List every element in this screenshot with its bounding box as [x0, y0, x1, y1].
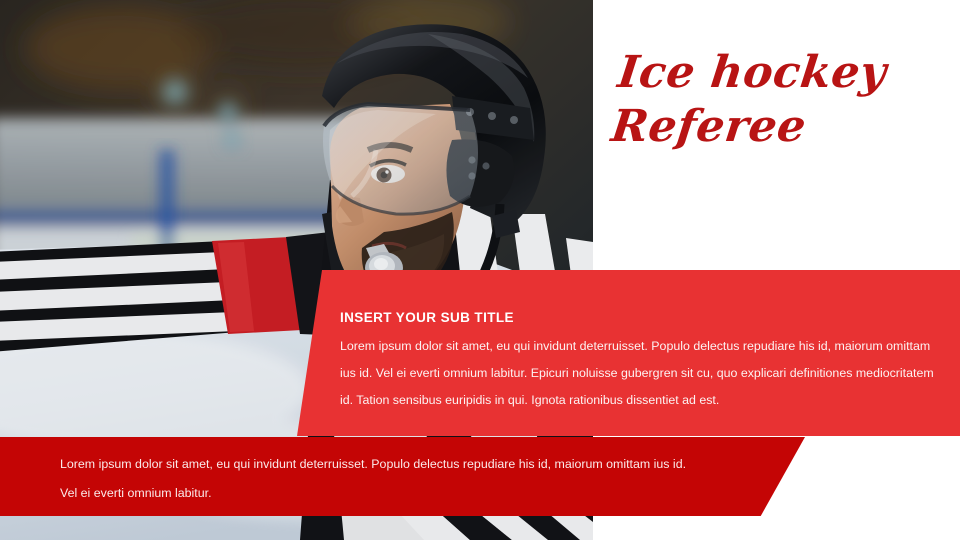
sub-title: INSERT YOUR SUB TITLE: [340, 270, 950, 325]
page-title: Ice hockey Referee: [608, 46, 951, 153]
body-paragraph: Lorem ipsum dolor sit amet, eu qui invid…: [340, 325, 940, 414]
title-line-2: Referee: [608, 100, 945, 154]
bottom-banner-text-group: Lorem ipsum dolor sit amet, eu qui invid…: [60, 437, 700, 516]
banner-paragraph: Lorem ipsum dolor sit amet, eu qui invid…: [60, 437, 700, 507]
title-line-1: Ice hockey: [615, 47, 889, 98]
presentation-slide: Ice hockey Referee INSERT YOUR SUB TITLE…: [0, 0, 960, 540]
content-text-group: INSERT YOUR SUB TITLE Lorem ipsum dolor …: [340, 270, 950, 436]
title-area: Ice hockey Referee: [593, 0, 960, 271]
